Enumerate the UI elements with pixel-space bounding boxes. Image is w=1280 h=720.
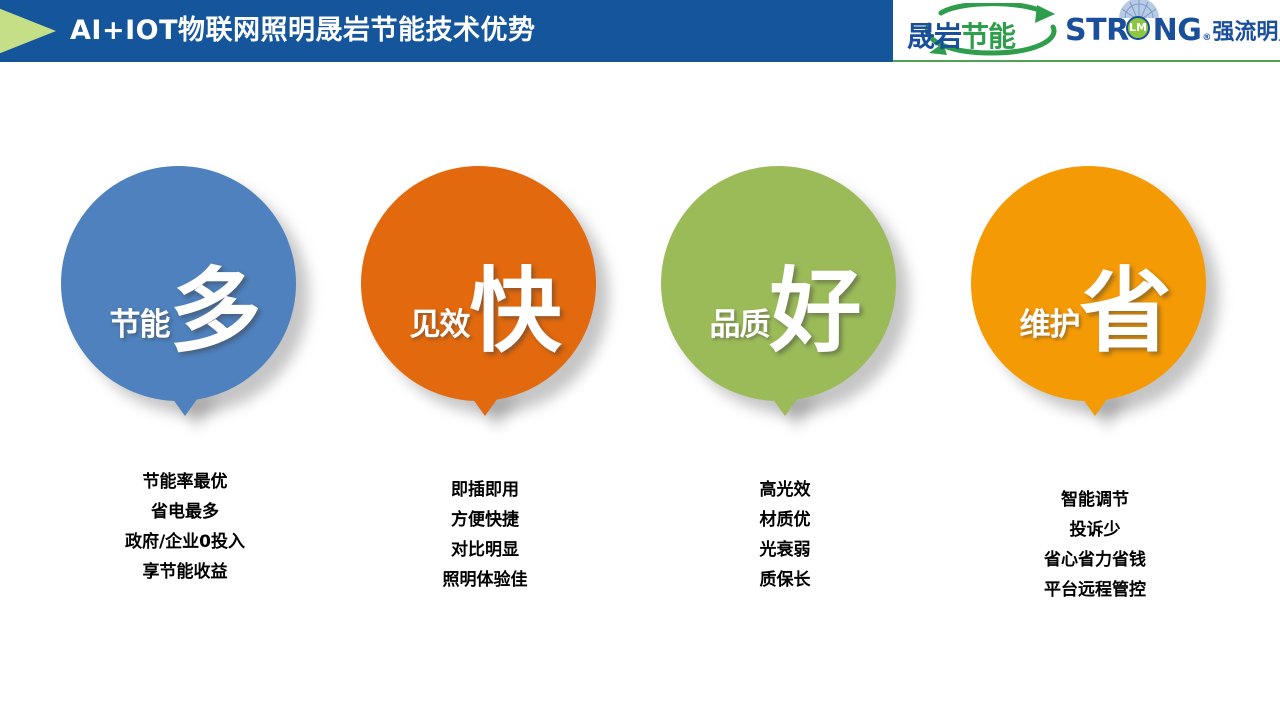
- advantage-card-quality: 品质 好 高光效 材质优 光衰弱 质保长: [635, 62, 935, 682]
- advantage-card-energy-saving: 节能 多 节能率最优 省电最多 政府/企业0投入 享节能收益: [35, 62, 335, 682]
- advantage-list: 智能调节 投诉少 省心省力省钱 平台远程管控: [945, 485, 1245, 605]
- list-item: 平台远程管控: [945, 575, 1245, 605]
- chevron-right-icon: [0, 0, 62, 62]
- bubble-energy-saving: 节能 多: [61, 166, 309, 428]
- list-item: 光衰弱: [635, 535, 935, 565]
- bubble-big-label: 多: [169, 275, 259, 349]
- logo-cn-char-2: 岩: [934, 20, 961, 53]
- advantage-list: 即插即用 方便快捷 对比明显 照明体验佳: [335, 475, 635, 595]
- list-item: 照明体验佳: [335, 565, 635, 595]
- list-item: 节能率最优: [35, 467, 335, 497]
- list-item: 享节能收益: [35, 557, 335, 587]
- slide-header: AI+IOT物联网照明晟岩节能技术优势 晟岩节能: [0, 0, 1280, 62]
- bubble-small-label: 品质: [709, 299, 769, 344]
- advantage-list: 节能率最优 省电最多 政府/企业0投入 享节能收益: [35, 467, 335, 587]
- registered-trademark-icon: ®: [1202, 33, 1211, 43]
- advantage-card-fast-results: 见效 快 即插即用 方便快捷 对比明显 照明体验佳: [335, 62, 635, 682]
- bubble-small-label: 见效: [409, 299, 469, 344]
- lm-badge-icon: LM: [1126, 16, 1150, 40]
- list-item: 省电最多: [35, 497, 335, 527]
- bubble-big-label: 快: [469, 275, 559, 349]
- list-item: 高光效: [635, 475, 935, 505]
- list-item: 智能调节: [945, 485, 1245, 515]
- bubble-maintenance: 维护 省: [971, 166, 1219, 428]
- list-item: 材质优: [635, 505, 935, 535]
- logo-company-mark: 晟岩节能: [903, 2, 1063, 58]
- list-item: 方便快捷: [335, 505, 635, 535]
- logo-company-name: 晟岩节能: [907, 15, 1015, 55]
- bubble-big-label: 好: [769, 275, 859, 349]
- list-item: 质保长: [635, 565, 935, 595]
- bubble-quality: 品质 好: [661, 166, 909, 428]
- strong-wordmark: STR LM NG ®: [1065, 13, 1211, 48]
- bubble-fast-results: 见效 快: [361, 166, 609, 428]
- logo-brand-cn: 强流明照明: [1212, 14, 1280, 46]
- logo-cn-char-1: 晟: [907, 20, 934, 53]
- bubble-small-label: 维护: [1019, 299, 1079, 344]
- advantage-card-grid: 节能 多 节能率最优 省电最多 政府/企业0投入 享节能收益 见效 快: [0, 62, 1280, 720]
- bubble-label-group: 品质 好: [661, 166, 896, 401]
- bubble-label-group: 维护 省: [971, 166, 1206, 401]
- list-item: 省心省力省钱: [945, 545, 1245, 575]
- list-item: 即插即用: [335, 475, 635, 505]
- bubble-label-group: 节能 多: [61, 166, 296, 401]
- bubble-label-group: 见效 快: [361, 166, 596, 401]
- bubble-small-label: 节能: [109, 299, 169, 344]
- list-item: 对比明显: [335, 535, 635, 565]
- page-title: AI+IOT物联网照明晟岩节能技术优势: [70, 0, 535, 62]
- list-item: 政府/企业0投入: [35, 527, 335, 557]
- list-item: 投诉少: [945, 515, 1245, 545]
- brand-logo: 晟岩节能 STR LM NG ® 强流明照明: [893, 0, 1280, 62]
- bubble-big-label: 省: [1079, 275, 1169, 349]
- logo-cn-jieneng: 节能: [961, 20, 1015, 53]
- advantage-list: 高光效 材质优 光衰弱 质保长: [635, 475, 935, 595]
- logo-brand-mark: STR LM NG ® 强流明照明: [1065, 2, 1280, 58]
- advantage-card-maintenance: 维护 省 智能调节 投诉少 省心省力省钱 平台远程管控: [945, 62, 1245, 682]
